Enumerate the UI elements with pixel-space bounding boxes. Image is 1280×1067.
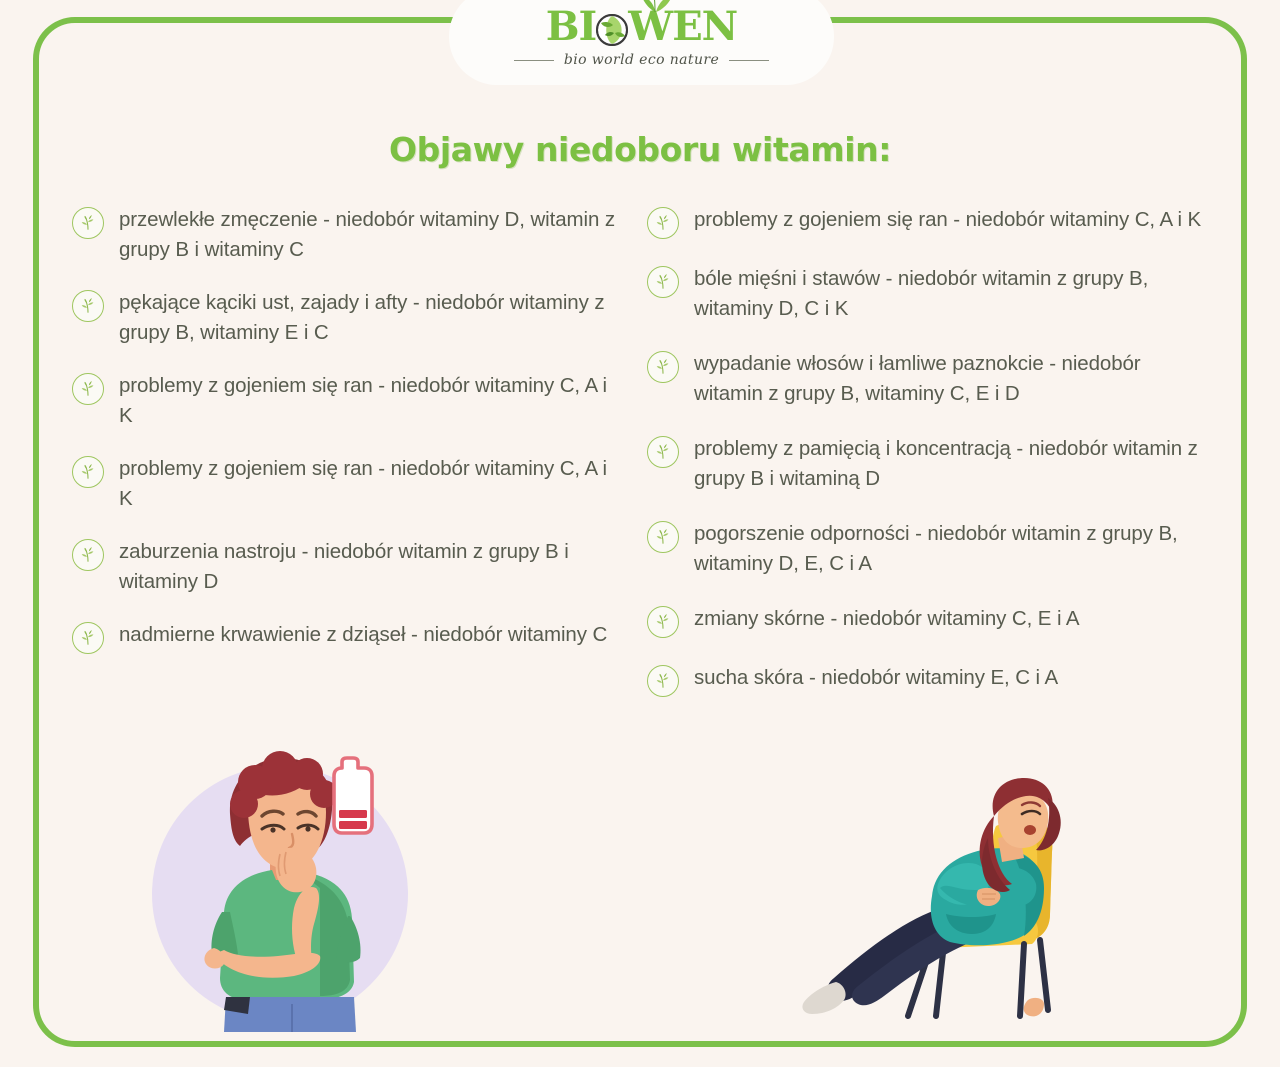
list-item-label: wypadanie włosów i łamliwe paznokcie - n… (694, 349, 1207, 409)
tagline-dash-right (729, 60, 769, 61)
woman-slumped-in-armchair-illustration (782, 772, 1082, 1020)
list-item-label: problemy z gojeniem się ran - niedobór w… (694, 205, 1201, 235)
sprig-icon (72, 207, 104, 239)
sprig-icon (647, 266, 679, 298)
list-item-label: problemy z gojeniem się ran - niedobór w… (119, 454, 617, 514)
symptom-column-left: przewlekłe zmęczenie - niedobór witaminy… (72, 205, 617, 722)
sprig-icon (647, 606, 679, 638)
list-item: sucha skóra - niedobór witaminy E, C i A (647, 663, 1207, 697)
list-item: zmiany skórne - niedobór witaminy C, E i… (647, 604, 1207, 638)
sprig-icon (72, 373, 104, 405)
sprig-icon (72, 622, 104, 654)
list-item-label: pogorszenie odporności - niedobór witami… (694, 519, 1207, 579)
symptom-column-right: problemy z gojeniem się ran - niedobór w… (647, 205, 1207, 722)
list-item: wypadanie włosów i łamliwe paznokcie - n… (647, 349, 1207, 409)
page-title: Objawy niedoboru witamin: (0, 130, 1280, 169)
brand-name-part2: WEN (628, 7, 737, 47)
infographic-canvas: BI WEN bio world eco nature Objawy niedo… (0, 0, 1280, 1067)
list-item-label: pękające kąciki ust, zajady i afty - nie… (119, 288, 617, 348)
sprig-icon (72, 290, 104, 322)
list-item-label: zmiany skórne - niedobór witaminy C, E i… (694, 604, 1079, 634)
list-item: problemy z pamięcią i koncentracją - nie… (647, 434, 1207, 494)
list-item: problemy z gojeniem się ran - niedobór w… (647, 205, 1207, 239)
list-item: pękające kąciki ust, zajady i afty - nie… (72, 288, 617, 348)
list-item-label: problemy z pamięcią i koncentracją - nie… (694, 434, 1207, 494)
brand-tagline: bio world eco nature (564, 52, 719, 68)
list-item: nadmierne krwawienie z dziąseł - niedobó… (72, 620, 617, 654)
list-item: przewlekłe zmęczenie - niedobór witaminy… (72, 205, 617, 265)
leaves-icon (627, 0, 683, 12)
list-item-label: problemy z gojeniem się ran - niedobór w… (119, 371, 617, 431)
sprig-icon (72, 539, 104, 571)
list-item-label: sucha skóra - niedobór witaminy E, C i A (694, 663, 1058, 693)
brand-logo-badge: BI WEN bio world eco nature (449, 0, 834, 85)
list-item-label: zaburzenia nastroju - niedobór witamin z… (119, 537, 617, 597)
tired-person-low-battery-illustration (152, 742, 424, 1032)
list-item: pogorszenie odporności - niedobór witami… (647, 519, 1207, 579)
brand-tagline-row: bio world eco nature (514, 52, 769, 68)
list-item-label: przewlekłe zmęczenie - niedobór witaminy… (119, 205, 617, 265)
sprig-icon (647, 521, 679, 553)
sprig-icon (647, 436, 679, 468)
brand-wordmark: BI WEN (546, 5, 738, 49)
sprig-icon (647, 665, 679, 697)
list-item: problemy z gojeniem się ran - niedobór w… (72, 454, 617, 514)
list-item: problemy z gojeniem się ran - niedobór w… (72, 371, 617, 431)
globe-leaf-icon (595, 13, 629, 47)
sprig-icon (72, 456, 104, 488)
tagline-dash-left (514, 60, 554, 61)
symptom-columns: przewlekłe zmęczenie - niedobór witaminy… (72, 205, 1222, 722)
sprig-icon (647, 351, 679, 383)
list-item: zaburzenia nastroju - niedobór witamin z… (72, 537, 617, 597)
list-item-label: bóle mięśni i stawów - niedobór witamin … (694, 264, 1207, 324)
sprig-icon (647, 207, 679, 239)
list-item-label: nadmierne krwawienie z dziąseł - niedobó… (119, 620, 607, 650)
brand-name-part1: BI (546, 7, 597, 47)
list-item: bóle mięśni i stawów - niedobór witamin … (647, 264, 1207, 324)
